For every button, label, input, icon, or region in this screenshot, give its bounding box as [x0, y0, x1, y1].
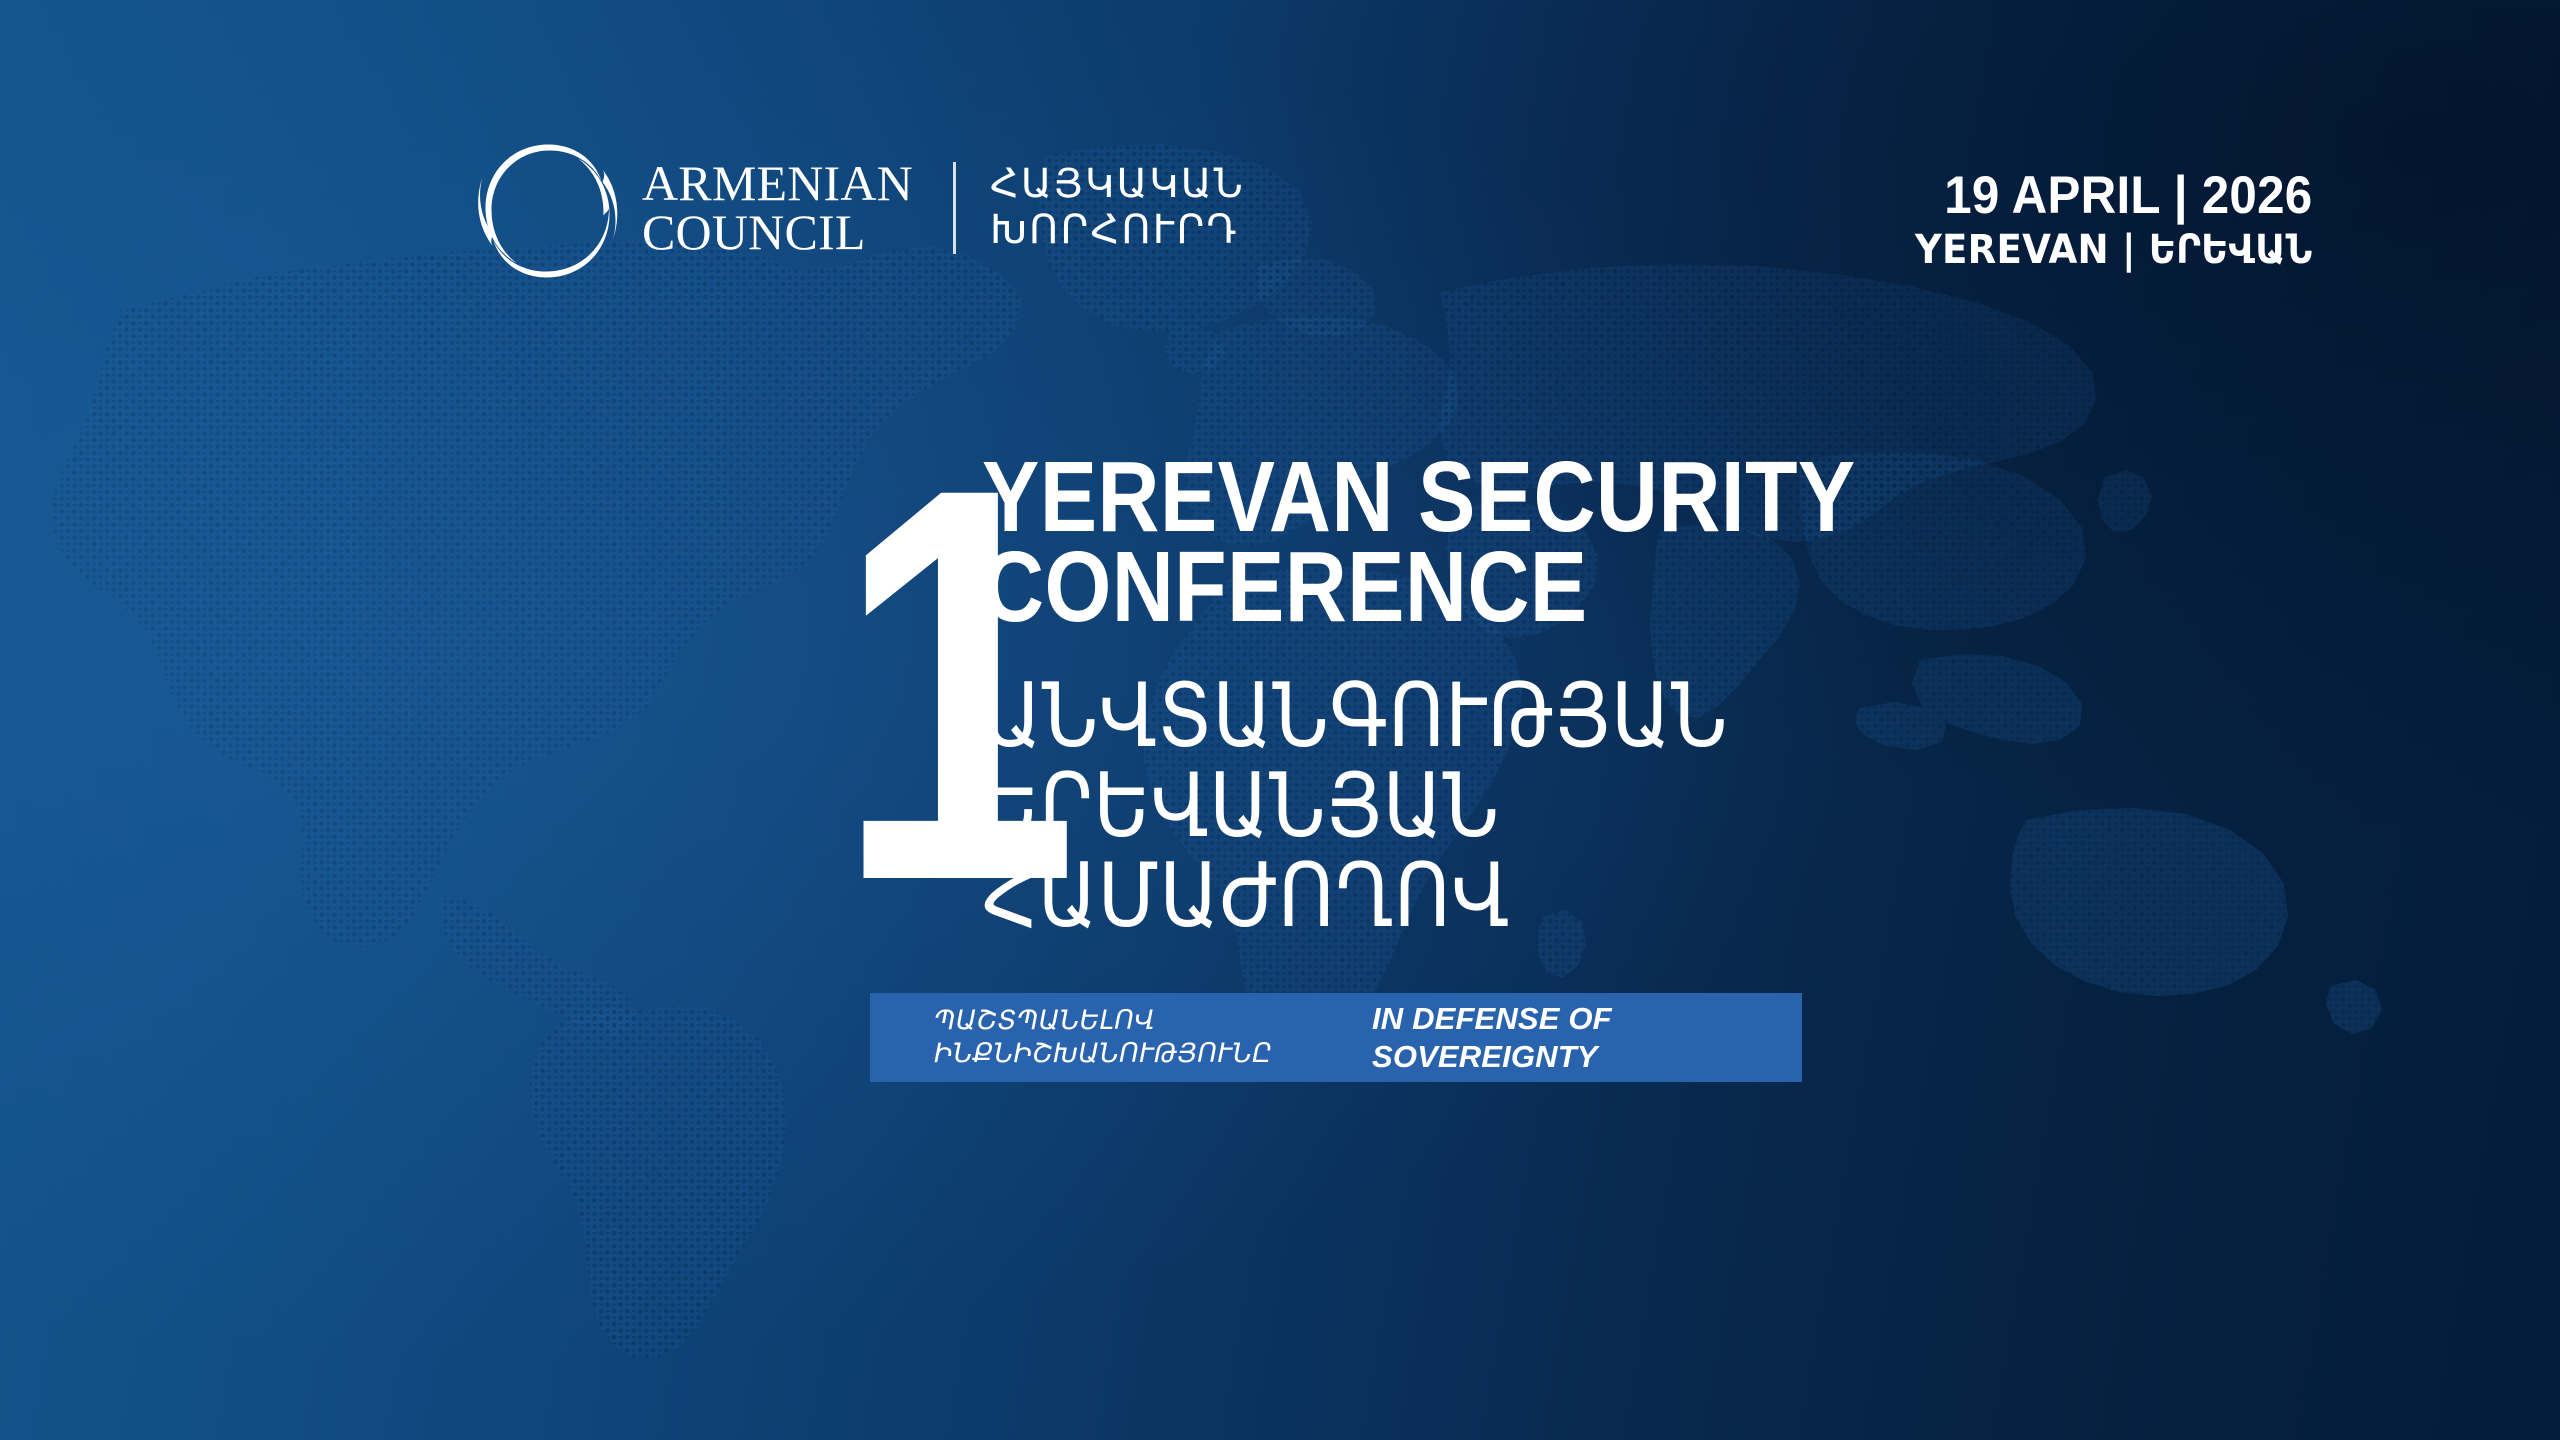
headline-en-line1: YEREVAN SECURITY	[982, 452, 2014, 542]
headline-hy: ԱՆՎՏԱՆԳՈՒԹՅԱՆ ԵՐԵՎԱՆՅԱՆ ՀԱՄԱԺՈՂՈՎ	[982, 672, 2038, 940]
headline-hy-line2: ԵՐԵՎԱՆՅԱՆ	[982, 762, 2038, 850]
tagline-hy-line1: ՊԱՇՏՊԱՆԵԼՈՎ	[934, 1005, 1364, 1038]
tagline-hy-line2: ԻՆՔՆԻՇԽԱՆՈՒԹՅՈՒՆԸ	[934, 1038, 1364, 1071]
conference-poster: ARMENIAN COUNCIL ՀԱՅԿԱԿԱՆ ԽՈՐՀՈՒՐԴ 19 AP…	[0, 0, 2560, 1440]
tagline-en: IN DEFENSE OF SOVEREIGNTY	[1372, 1000, 1612, 1076]
tagline-banner: ՊԱՇՏՊԱՆԵԼՈՎ ԻՆՔՆԻՇԽԱՆՈՒԹՅՈՒՆԸ IN DEFENSE…	[870, 993, 1802, 1082]
headline-block: YEREVAN SECURITY CONFERENCE ԱՆՎՏԱՆԳՈՒԹՅԱ…	[982, 452, 2182, 942]
tagline-en-line1: IN DEFENSE OF	[1372, 1000, 1612, 1038]
headline-hy-line1: ԱՆՎՏԱՆԳՈՒԹՅԱՆ	[982, 672, 2038, 760]
headline-en-line2: CONFERENCE	[982, 542, 2014, 632]
tagline-hy: ՊԱՇՏՊԱՆԵԼՈՎ ԻՆՔՆԻՇԽԱՆՈՒԹՅՈՒՆԸ	[934, 1005, 1364, 1071]
poster-main: 1 YEREVAN SECURITY CONFERENCE ԱՆՎՏԱՆԳՈՒԹ…	[0, 0, 2560, 1440]
headline-hy-line3: ՀԱՄԱԺՈՂՈՎ	[982, 852, 2038, 940]
tagline-en-line2: SOVEREIGNTY	[1372, 1038, 1612, 1076]
